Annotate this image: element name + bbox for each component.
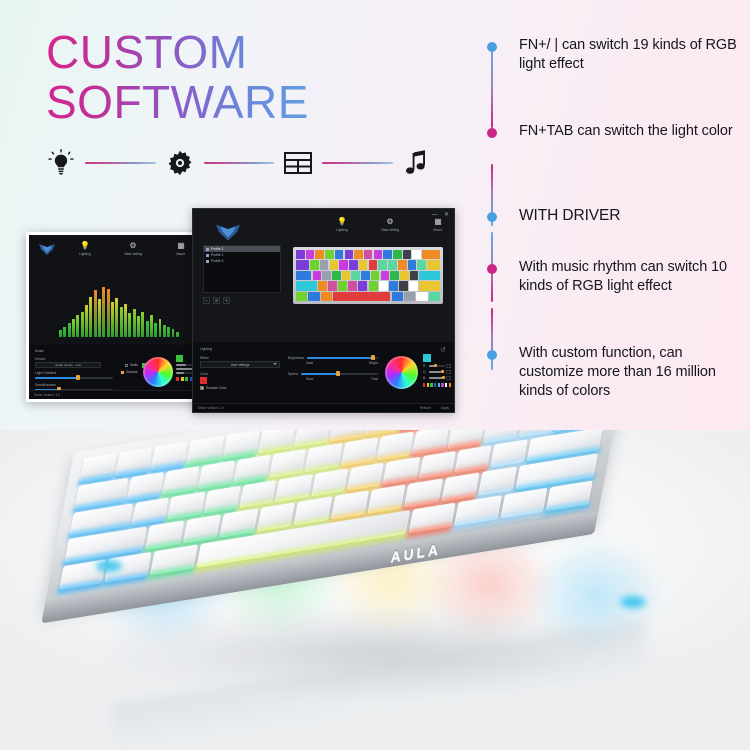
keycap: [441, 473, 480, 502]
keyboard-preview-key[interactable]: [379, 281, 388, 290]
color-swatch[interactable]: [441, 383, 443, 387]
equalizer-bar: [159, 319, 162, 337]
device-select-value: Audio device - Left: [55, 363, 81, 367]
rgb-slider-b[interactable]: [429, 377, 445, 379]
toolbar-label: Macro: [434, 228, 443, 232]
bullet-dot-icon: [487, 350, 497, 360]
keycap: [187, 436, 224, 465]
toolbar-item-lighting[interactable]: 💡 Lighting: [68, 241, 102, 256]
color-swatch[interactable]: [423, 383, 425, 387]
keyboard-preview-key[interactable]: [332, 271, 341, 280]
keyboard-preview-key[interactable]: [306, 250, 315, 259]
equalizer-bar: [115, 298, 118, 337]
equalizer-bar: [120, 307, 123, 337]
keyboard-preview-key[interactable]: [335, 250, 344, 259]
profile-list[interactable]: Profile 1 Profile 2 Profile 3: [203, 245, 281, 293]
equalizer-bar: [63, 327, 66, 337]
keyboard-preview-key[interactable]: [404, 292, 415, 301]
color-swatch-row[interactable]: [423, 383, 451, 387]
keyboard-preview-key[interactable]: [349, 260, 358, 269]
keycap: [151, 442, 188, 471]
window2-control-panel[interactable]: Lighting ↺ Effect User settings Color Ra…: [193, 342, 454, 412]
keyboard-preview-key[interactable]: [320, 260, 329, 269]
keyboard-preview-key[interactable]: [322, 271, 331, 280]
bullet-text-2: FN+TAB can switch the light color: [519, 123, 733, 139]
keyboard-preview-key[interactable]: [358, 281, 367, 290]
speed-slider[interactable]: [301, 373, 378, 375]
keyboard-layout-preview[interactable]: [293, 247, 443, 304]
keyboard-preview-key[interactable]: [416, 292, 427, 301]
keyboard-preview-key[interactable]: [429, 292, 440, 301]
keyboard-preview-key[interactable]: [409, 281, 418, 290]
bullet-dot-icon: [487, 128, 497, 138]
keycap: [376, 431, 413, 460]
keyboard-preview-key[interactable]: [393, 250, 402, 259]
software-window-music[interactable]: 💡 Lighting ⚙ Base setting ▦ Macro Off On…: [26, 232, 209, 402]
selected-color-swatch[interactable]: [423, 354, 431, 362]
rgb-slider-g[interactable]: [429, 371, 445, 373]
keycap: [412, 430, 449, 455]
keyboard-preview-key[interactable]: [361, 271, 370, 280]
equalizer-bar: [59, 330, 62, 337]
rgb-slider-r[interactable]: [429, 365, 445, 367]
bullet-item-2: FN+TAB can switch the light color: [487, 122, 739, 141]
gear-icon: [163, 146, 197, 180]
speed-min-label: Slow: [306, 377, 313, 381]
profile-toolbar[interactable]: + ☰ ✎: [203, 297, 230, 304]
window2-statusbar: Driver version: 1.0 Restore Apply: [193, 403, 454, 412]
window1-statusbar: Driver version: 1.0: [29, 390, 206, 399]
keyboard-preview-key[interactable]: [318, 281, 327, 290]
product-photo: AULA: [0, 430, 750, 750]
bullet-item-5: With custom function, can customize more…: [487, 344, 739, 401]
current-color-swatch[interactable]: [200, 377, 207, 384]
profile-label: Profile 2: [211, 253, 223, 257]
keyboard-preview-key[interactable]: [422, 250, 440, 259]
keycap: [404, 479, 443, 508]
brightness-label: Brightness: [288, 356, 304, 360]
bullet-text-4: With music rhythm can switch 10 kinds of…: [519, 259, 727, 294]
window1-control-panel[interactable]: Music Device Audio device - Left Static: [29, 345, 206, 399]
table-icon: [281, 146, 315, 180]
keyboard-preview-key[interactable]: [369, 260, 378, 269]
profile-delete-button[interactable]: ☰: [213, 297, 220, 304]
keyboard-preview-row: [296, 260, 440, 269]
keycap: [293, 497, 332, 526]
keyboard-preview-key[interactable]: [392, 292, 403, 301]
keyboard-preview-row: [296, 250, 440, 259]
lightbulb-icon: [44, 146, 78, 180]
status-version-text: Driver version: 1.0: [198, 406, 224, 410]
color-swatch[interactable]: [445, 383, 447, 387]
profile-label: Profile 1: [211, 247, 223, 251]
apply-button[interactable]: Apply: [441, 406, 449, 410]
aula-brand-logo-icon: [37, 243, 57, 256]
effect-select-value: User settings: [231, 363, 250, 367]
brightness-max-label: Bright: [369, 361, 378, 365]
keycap: [127, 472, 164, 501]
keyboard-preview-key[interactable]: [328, 281, 337, 290]
bullet-dot-icon: [487, 212, 497, 222]
keyboard-preview-key[interactable]: [427, 260, 440, 269]
keyboard-preview-key[interactable]: [369, 281, 378, 290]
keyboard-preview-key[interactable]: [364, 250, 373, 259]
keyboard-preview-key[interactable]: [296, 281, 317, 290]
keyboard-preview-key[interactable]: [412, 250, 421, 259]
keyboard-preview-key[interactable]: [296, 250, 305, 259]
keyboard-preview-key[interactable]: [381, 271, 390, 280]
keycap: [198, 460, 235, 489]
keyboard-preview-key[interactable]: [388, 260, 397, 269]
color-wheel-picker[interactable]: [385, 356, 418, 389]
bullet-text-1: FN+/ | can switch 19 kinds of RGB light …: [519, 37, 737, 72]
bullet-text-5: With custom function, can customize more…: [519, 345, 716, 399]
equalizer-bar: [176, 332, 179, 337]
equalizer-bar: [124, 304, 127, 337]
keyboard-preview-key[interactable]: [399, 281, 408, 290]
keyboard-preview-key[interactable]: [338, 281, 347, 290]
rgb-label-r: R: [423, 364, 427, 368]
keyboard-preview-key[interactable]: [383, 250, 392, 259]
rgb-label-g: G: [423, 370, 427, 374]
effect-select[interactable]: User settings: [200, 361, 280, 368]
equalizer-bar: [133, 309, 136, 337]
toolbar-label: Base setting: [381, 228, 399, 232]
color-swatch[interactable]: [434, 383, 436, 387]
status-version-text: Driver version: 1.0: [34, 393, 60, 397]
selected-color-swatch[interactable]: [176, 355, 183, 362]
bullet-text-3: WITH DRIVER: [519, 207, 620, 224]
keycap: [367, 485, 406, 514]
keyboard-preview-key[interactable]: [348, 281, 357, 290]
keyboard-preview-row: [296, 292, 440, 301]
led-underglow-left: [96, 560, 122, 572]
keyboard-preview-key[interactable]: [389, 281, 398, 290]
slider-label-sensitiveness: Sensitiveness: [35, 383, 113, 387]
profile-item[interactable]: Profile 3: [204, 258, 280, 264]
random-color-label: Random Color: [206, 386, 227, 390]
keycap: [115, 447, 152, 476]
toolbar-item-macro[interactable]: ▦ Macro: [421, 217, 454, 232]
keyboard-preview-key[interactable]: [351, 271, 360, 280]
keyboard-preview-key[interactable]: [354, 250, 363, 259]
equalizer-bar: [172, 329, 175, 337]
led-underglow-right: [620, 596, 646, 608]
keycap: [80, 453, 117, 482]
profile-label: Profile 3: [211, 259, 223, 263]
connector-line-2: [204, 162, 275, 164]
connector-line-1: [85, 162, 156, 164]
keycap: [330, 491, 369, 520]
macro-icon: ▦: [434, 217, 442, 226]
window2-toolbar[interactable]: 💡 Lighting ⚙ Base setting ▦ Macro ♫ Musi…: [325, 217, 454, 232]
keycap: [222, 430, 259, 459]
keyboard-preview-key[interactable]: [378, 260, 387, 269]
equalizer-bar: [141, 312, 144, 337]
equalizer-bar: [94, 290, 97, 337]
keyboard-preview-key[interactable]: [339, 260, 348, 269]
keyboard-preview-row: [296, 281, 440, 290]
keyboard-preview-key[interactable]: [342, 271, 351, 280]
keyboard-preview-key[interactable]: [419, 271, 439, 280]
color-swatch[interactable]: [427, 383, 429, 387]
keyboard-preview-key[interactable]: [400, 271, 409, 280]
keyboard-preview-key[interactable]: [296, 292, 307, 301]
macro-icon: ▦: [177, 241, 185, 250]
lighting-icon: 💡: [80, 241, 90, 250]
keycap: [162, 466, 199, 495]
page-title: CUSTOM SOFTWARE: [46, 30, 309, 124]
keycap: [305, 443, 342, 472]
device-select[interactable]: Audio device - Left: [35, 362, 101, 368]
keyboard-preview-key[interactable]: [398, 260, 407, 269]
toolbar-label: Base setting: [124, 252, 142, 256]
keyboard-preview-key[interactable]: [333, 292, 390, 301]
color-swatch[interactable]: [449, 383, 451, 387]
color-swatch[interactable]: [438, 383, 440, 387]
color-wheel-picker[interactable]: [143, 357, 173, 387]
brightness-min-label: Dark: [306, 361, 313, 365]
connector-line-3: [322, 162, 393, 164]
keyboard-preview-key[interactable]: [345, 250, 354, 259]
equalizer-bar: [102, 287, 105, 337]
keycap: [256, 503, 295, 532]
gear-icon: ⚙: [129, 241, 136, 250]
equalizer-bar: [72, 319, 75, 337]
keycap: [234, 454, 271, 483]
toolbar-item-lighting[interactable]: 💡 Lighting: [325, 217, 359, 232]
rgb-label-b: B: [423, 376, 427, 380]
equalizer-bar: [146, 321, 149, 337]
radio-gradual-label: Gradual: [126, 370, 137, 374]
equalizer-bar: [107, 289, 110, 337]
keyboard-preview-key[interactable]: [308, 292, 319, 301]
keyboard-preview-key[interactable]: [410, 271, 419, 280]
profile-add-button[interactable]: +: [203, 297, 210, 304]
speed-label: Speed: [288, 372, 298, 376]
keycap: [145, 521, 184, 550]
keycap: [182, 515, 221, 544]
brightness-slider[interactable]: [307, 357, 378, 359]
equalizer-bar: [89, 297, 92, 337]
equalizer-bar: [76, 315, 79, 337]
keycap: [341, 437, 378, 466]
slider-light-gradient[interactable]: [35, 377, 113, 379]
keycap: [219, 509, 258, 538]
keyboard-preview-row: [296, 271, 440, 280]
radio-static-label: Static: [130, 363, 138, 367]
equalizer-bar: [81, 312, 84, 337]
audio-equalizer-visualizer: [59, 287, 179, 337]
toolbar-label: Lighting: [336, 228, 347, 232]
equalizer-bar: [154, 323, 157, 337]
keyboard-preview-key[interactable]: [321, 292, 332, 301]
keyboard-preview-key[interactable]: [330, 260, 339, 269]
radio-gradual[interactable]: Gradual: [121, 370, 137, 374]
feature-icon-strip: [44, 140, 434, 186]
keyboard-preview-key[interactable]: [390, 271, 399, 280]
section-label: Lighting: [200, 347, 447, 351]
title-line-2: SOFTWARE: [46, 80, 309, 124]
promo-panel: CUSTOM SOFTWARE: [0, 0, 750, 430]
equalizer-bar: [68, 323, 71, 337]
keyboard-preview-key[interactable]: [374, 250, 383, 259]
title-line-1: CUSTOM: [46, 30, 309, 74]
bullet-item-3: WITH DRIVER: [487, 206, 739, 225]
gear-icon: ⚙: [386, 217, 393, 226]
toolbar-item-base-setting[interactable]: ⚙ Base setting: [373, 217, 407, 232]
software-window-lighting[interactable]: — ✕ 💡 Lighting ⚙ Base setting: [192, 208, 455, 413]
bullet-item-1: FN+/ | can switch 19 kinds of RGB light …: [487, 36, 739, 74]
bullet-dot-icon: [487, 264, 497, 274]
music-note-icon: [400, 146, 434, 180]
section-label: Music: [35, 349, 200, 353]
aula-brand-logo-icon: [213, 223, 243, 242]
equalizer-bar: [85, 305, 88, 337]
equalizer-bar: [167, 327, 170, 337]
equalizer-bar: [128, 313, 131, 337]
keyboard-preview-key[interactable]: [296, 260, 309, 269]
keyboard-preview-key[interactable]: [325, 250, 334, 259]
lighting-icon: 💡: [337, 217, 347, 226]
toolbar-label: Macro: [177, 252, 186, 256]
color-swatch[interactable]: [430, 383, 432, 387]
reset-icon[interactable]: ↺: [440, 346, 446, 354]
profile-edit-button[interactable]: ✎: [223, 297, 230, 304]
keycap: [478, 467, 517, 496]
equalizer-bar: [163, 325, 166, 337]
keyboard-preview-key[interactable]: [371, 271, 380, 280]
equalizer-bar: [150, 315, 153, 337]
keycap: [258, 430, 295, 453]
keycap: [269, 449, 306, 478]
keyboard-preview-key[interactable]: [419, 281, 440, 290]
bullet-item-4: With music rhythm can switch 10 kinds of…: [487, 258, 739, 296]
slider-label-gradient: Light Gradient: [35, 371, 113, 375]
keyboard-preview-key[interactable]: [313, 271, 322, 280]
equalizer-bar: [137, 316, 140, 337]
keyboard-preview-key[interactable]: [315, 250, 324, 259]
keyboard-preview-key[interactable]: [359, 260, 368, 269]
keyboard-preview-key[interactable]: [310, 260, 319, 269]
equalizer-bar: [111, 302, 114, 337]
toolbar-label: Lighting: [79, 252, 90, 256]
keyboard-preview-key[interactable]: [417, 260, 426, 269]
toolbar-item-base-setting[interactable]: ⚙ Base setting: [116, 241, 150, 256]
equalizer-bar: [98, 299, 101, 337]
bullet-dot-icon: [487, 42, 497, 52]
keyboard-preview-key[interactable]: [296, 271, 311, 280]
keyboard-preview-key[interactable]: [408, 260, 417, 269]
window1-toolbar[interactable]: 💡 Lighting ⚙ Base setting ▦ Macro: [68, 241, 198, 256]
restore-button[interactable]: Restore: [420, 406, 431, 410]
speed-max-label: Fast: [371, 377, 378, 381]
keyboard-preview-key[interactable]: [403, 250, 412, 259]
